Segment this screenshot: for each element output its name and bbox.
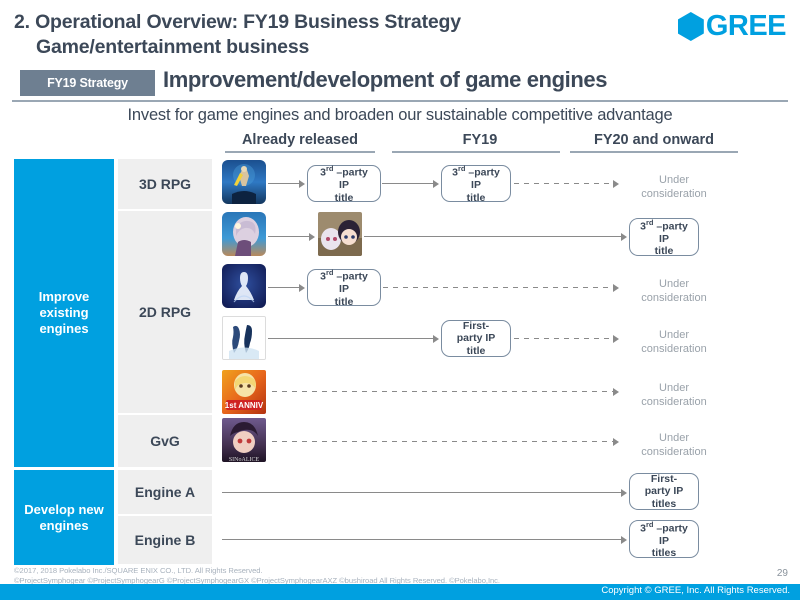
arrow-r1-c [514,183,614,184]
status-badge: FY19 Strategy [20,70,155,96]
status-under-consideration-r5: Underconsideration [604,382,744,409]
game-thumbnail-2d-rpg-1 [222,212,266,256]
arrow-r1-b [382,183,434,184]
lead-statement: Invest for game engines and broaden our … [0,106,800,125]
box-r2-fy20: 3rd –partyIPtitle [629,218,699,256]
arrow-r2-b [364,236,622,237]
arrowhead-r2-a [309,233,315,241]
row-label-gvg: GvG [118,415,212,467]
arrow-r4-b [514,338,614,339]
game-thumbnail-gvg: SINoALICE [222,418,266,462]
footnote-line1: ©2017, 2018 Pokelabo Inc./SQUARE ENIX CO… [14,566,263,576]
arrow-r4-a [268,338,434,339]
arrow-r6 [272,441,614,442]
bottom-bar: Copyright © GREE, Inc. All Rights Reserv… [0,584,800,600]
column-rule-3 [570,151,738,153]
header-divider [12,100,788,102]
group-label-improve-existing-engines: Improve existing engines [14,159,114,467]
box-r1-fy19: 3rd –partyIPtitle [441,165,511,202]
column-header-fy19: FY19 [400,132,560,148]
page-title: 2. Operational Overview: FY19 Business S… [14,10,654,60]
status-under-consideration-r4: Underconsideration [604,329,744,356]
column-rule-1 [225,151,375,153]
arrow-r5 [272,391,614,392]
arrowhead-r3-a [299,284,305,292]
arrow-r3-b [383,287,614,288]
svg-text:SINoALICE: SINoALICE [229,457,260,462]
arrowhead-r1-b [433,180,439,188]
page-title-line1: 2. Operational Overview: FY19 Business S… [14,11,461,33]
arrow-engine-a [222,492,622,493]
arrowhead-r4-a [433,335,439,343]
arrowhead-engine-b [621,536,627,544]
column-header-fy20: FY20 and onward [570,132,738,148]
arrow-r2-a [268,236,310,237]
gree-logo: GREE [678,12,786,41]
box-r4-fy19: First-party IPtitle [441,320,511,357]
status-under-consideration-r1: Underconsideration [604,174,744,201]
hexagon-icon [678,12,704,41]
box-engine-a-fy20: First-party IPtitles [629,473,699,510]
row-label-2d-rpg: 2D RPG [118,211,212,413]
slide-root: 2. Operational Overview: FY19 Business S… [0,0,800,600]
arrow-r1-a [268,183,300,184]
game-thumbnail-3d-rpg [222,160,266,204]
column-rule-2 [392,151,560,153]
game-thumbnail-2d-rpg-4: 1st ANNIV [222,370,266,414]
box-engine-b-fy20: 3rd –partyIPtitles [629,520,699,558]
bottom-bar-copyright: Copyright © GREE, Inc. All Rights Reserv… [601,585,790,596]
gree-wordmark: GREE [706,12,786,41]
row-label-engine-a: Engine A [118,470,212,514]
svg-text:1st ANNIV: 1st ANNIV [225,401,264,410]
arrow-engine-b [222,539,622,540]
row-label-engine-b: Engine B [118,516,212,564]
group-label-develop-new-engines: Develop new engines [14,470,114,565]
column-header-already-released: Already released [225,132,375,148]
arrowhead-engine-a [621,489,627,497]
arrowhead-r1-a [299,180,305,188]
arrowhead-r2-b [621,233,627,241]
section-subtitle: Improvement/development of game engines [163,67,607,93]
game-thumbnail-2d-rpg-2 [222,264,266,308]
status-under-consideration-r6: Underconsideration [604,432,744,459]
box-r3-released: 3rd –partyIPtitle [307,269,381,306]
page-number: 29 [777,568,788,579]
row-label-3d-rpg: 3D RPG [118,159,212,209]
game-thumbnail-fy19-2d-rpg-1 [318,212,362,256]
arrow-r3-a [268,287,300,288]
game-thumbnail-2d-rpg-3 [222,316,266,360]
status-under-consideration-r3: Underconsideration [604,278,744,305]
box-r1-fy-released: 3rd –partyIPtitle [307,165,381,202]
page-title-line2: Game/entertainment business [14,35,654,60]
